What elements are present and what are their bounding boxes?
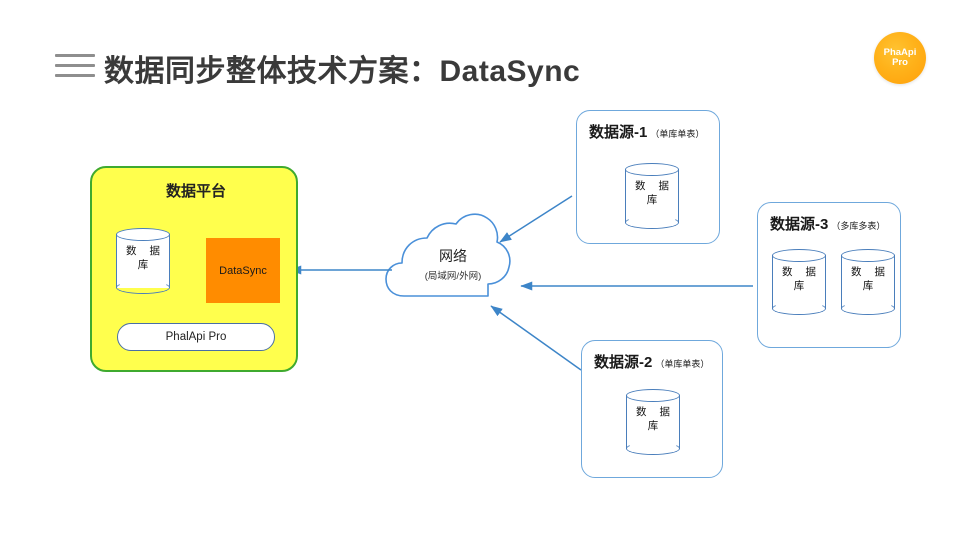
cylinder-label: 数 据 库 [625,179,679,207]
data-source-1-header: 数据源-1 （单库单表） [589,121,704,142]
data-source-1-database-cylinder: 数 据 库 [625,163,679,229]
data-source-1-note: （单库单表） [650,127,704,140]
wire-source1-to-network [500,196,572,242]
cylinder-label-line1: 数 据 [625,179,679,193]
data-source-3-database-cylinder-1: 数 据 库 [772,249,826,315]
architecture-diagram: 数据平台 DataSync PhalApi Pro 数 据 库 网络 (局域网/… [0,0,960,540]
platform-database-cylinder: 数 据 库 [116,228,170,294]
data-source-2-header: 数据源-2 （单库单表） [594,351,709,372]
cylinder-label: 数 据 库 [841,265,895,293]
cylinder-bottom [841,302,895,315]
cylinder-label-line2: 库 [625,193,679,207]
cylinder-label-line2: 库 [841,279,895,293]
cylinder-bottom [116,281,170,294]
cylinder-top [772,249,826,262]
cylinder-label: 数 据 库 [772,265,826,293]
network-cloud-label: 网络 (局域网/外网) [393,246,513,282]
phalapi-pro-component[interactable]: PhalApi Pro [117,323,275,351]
data-source-1-name: 数据源-1 [589,121,647,142]
wire-source2-to-network [491,306,581,370]
cylinder-label-line2: 库 [772,279,826,293]
data-platform-title: 数据平台 [92,180,300,201]
cylinder-bottom [772,302,826,315]
cylinder-label-line1: 数 据 [116,244,170,258]
data-source-3-note: （多库多表） [831,219,885,232]
cylinder-label: 数 据 库 [116,244,170,272]
data-source-3-header: 数据源-3 （多库多表） [770,213,885,234]
network-title: 网络 [393,246,513,266]
data-source-2-note: （单库单表） [655,357,709,370]
cylinder-top [116,228,170,241]
cylinder-top [626,389,680,402]
cylinder-label-line1: 数 据 [841,265,895,279]
cylinder-top [625,163,679,176]
network-subtitle: (局域网/外网) [393,268,513,282]
cylinder-label-line2: 库 [626,419,680,433]
cylinder-bottom [626,442,680,455]
datasync-component[interactable]: DataSync [206,238,280,303]
data-source-3-name: 数据源-3 [770,213,828,234]
data-source-2-name: 数据源-2 [594,351,652,372]
network-cloud-shape [386,214,510,296]
cylinder-label-line1: 数 据 [626,405,680,419]
data-source-2-database-cylinder: 数 据 库 [626,389,680,455]
data-source-3-database-cylinder-2: 数 据 库 [841,249,895,315]
cylinder-label-line2: 库 [116,258,170,272]
cylinder-label: 数 据 库 [626,405,680,433]
cylinder-top [841,249,895,262]
cylinder-label-line1: 数 据 [772,265,826,279]
cylinder-bottom [625,216,679,229]
